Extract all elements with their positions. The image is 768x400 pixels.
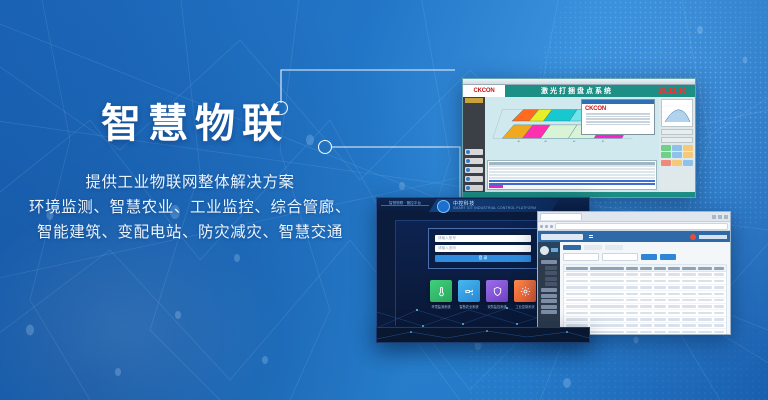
close-icon[interactable]: [724, 215, 728, 219]
avatar[interactable]: [690, 234, 696, 240]
promo-banner: 智慧物联 提供工业物联网整体解决方案 环境监测、智慧农业、工业监控、综合管廊、 …: [0, 0, 768, 400]
password-placeholder: 请输入密码: [438, 246, 456, 251]
portal-bottom-network-strip: [376, 327, 590, 343]
scada-icon[interactable]: [683, 160, 693, 166]
scada-data-table[interactable]: [487, 160, 657, 190]
username-placeholder: 请输入账号: [438, 236, 456, 241]
reset-button[interactable]: [660, 254, 676, 260]
app-logo: [541, 234, 583, 240]
scada-trend-chart: [661, 99, 693, 127]
svg-text:A1: A1: [518, 140, 520, 143]
scada-sidebar-button[interactable]: [465, 176, 483, 182]
svg-text:B1: B1: [573, 141, 575, 143]
password-input[interactable]: 请输入密码: [435, 245, 531, 252]
browser-tabstrip[interactable]: [538, 212, 730, 222]
tab-online[interactable]: [584, 245, 602, 250]
hero-subtitle: 提供工业物联网整体解决方案 环境监测、智慧农业、工业监控、综合管廊、 智能建筑、…: [0, 170, 380, 245]
hamburger-icon[interactable]: [589, 235, 593, 239]
admin-dashboard-browser-screenshot[interactable]: [537, 211, 731, 335]
username-input[interactable]: 请输入账号: [435, 235, 531, 242]
dashboard-columns: [538, 242, 730, 335]
scada-icon[interactable]: [661, 152, 671, 158]
forward-icon[interactable]: [545, 225, 548, 228]
reload-icon[interactable]: [550, 225, 553, 228]
sidebar-item-users[interactable]: [541, 305, 557, 309]
scada-brand-logo: CKCON: [463, 85, 505, 97]
scada-rail-button[interactable]: [661, 137, 693, 143]
scada-sidebar-button[interactable]: [465, 149, 483, 155]
scada-title: 激光打捆盘点系统: [505, 86, 649, 96]
app-header-right[interactable]: [690, 234, 727, 240]
dashboard-sidebar[interactable]: [538, 242, 560, 335]
sidebar-item-reports[interactable]: [541, 299, 557, 303]
sidebar-item-data[interactable]: [541, 288, 557, 292]
scada-canvas[interactable]: A1A2 B1B2 CKCON: [485, 97, 659, 192]
window-controls[interactable]: [712, 215, 728, 219]
dialog-brand-logo: CKCON: [585, 106, 654, 112]
keyword-input[interactable]: [563, 253, 599, 261]
dialog-text-line: [586, 121, 650, 123]
scada-icon[interactable]: [672, 152, 682, 158]
sidebar-item-alarms[interactable]: [541, 294, 557, 298]
dialog-text-line: [586, 118, 650, 120]
hero-subtitle-line-2: 环境监测、智慧农业、工业监控、综合管廊、: [0, 195, 380, 220]
gear-icon: [437, 200, 450, 213]
type-select[interactable]: [602, 253, 638, 261]
scada-sidebar-button[interactable]: [465, 158, 483, 164]
dashboard-content: [560, 242, 730, 335]
sidebar-user-card[interactable]: [538, 242, 560, 258]
maximize-icon[interactable]: [718, 215, 722, 219]
scada-icon[interactable]: [661, 160, 671, 166]
scada-rail-button[interactable]: [661, 129, 693, 135]
scada-sidebar-button[interactable]: [465, 167, 483, 173]
tab-all[interactable]: [563, 245, 581, 250]
minimize-icon[interactable]: [712, 215, 716, 219]
scada-right-rail[interactable]: [659, 97, 695, 192]
scada-sidebar-tag: [465, 98, 483, 103]
page-title: 智慧物联: [10, 104, 380, 144]
scada-icon[interactable]: [661, 145, 671, 151]
avatar: [540, 246, 549, 255]
scada-icon[interactable]: [683, 152, 693, 158]
scada-icon-grid[interactable]: [661, 145, 693, 166]
dialog-titlebar: [582, 100, 654, 104]
filter-bar[interactable]: [563, 253, 727, 261]
portal-subtitle: SMART IOT INDUSTRIAL CONTROL PLATFORM: [453, 206, 536, 210]
dialog-text-line: [586, 116, 650, 118]
hero-subtitle-line-3: 智能建筑、变配电站、防灾减灾、智慧交通: [0, 220, 380, 245]
sidebar-user-name: [551, 248, 558, 252]
device-table[interactable]: [563, 264, 727, 335]
sidebar-subitem[interactable]: [545, 282, 557, 286]
sidebar-subitem[interactable]: [545, 266, 557, 270]
scada-header: CKCON 激光打捆盘点系统 15:22:10: [463, 85, 695, 97]
scada-body: A1A2 B1B2 CKCON: [463, 97, 695, 192]
sidebar-item-devices[interactable]: [541, 260, 557, 264]
login-button[interactable]: 登 录: [435, 255, 531, 262]
scada-icon[interactable]: [672, 145, 682, 151]
scada-icon[interactable]: [683, 145, 693, 151]
browser-addressbar[interactable]: [538, 222, 730, 231]
sidebar-item-settings[interactable]: [541, 310, 557, 314]
search-button[interactable]: [641, 254, 657, 260]
scada-sidebar-button[interactable]: [465, 185, 483, 191]
sidebar-subitem[interactable]: [545, 277, 557, 281]
portal-left-label: 智慧物联 · 管控平台: [389, 201, 421, 206]
scada-sidebar[interactable]: [463, 97, 485, 192]
login-form[interactable]: 请输入账号 请输入密码 登 录: [428, 228, 538, 269]
sidebar-subitem[interactable]: [545, 271, 557, 275]
dialog-text-line: [586, 113, 650, 115]
app-header: [538, 231, 730, 242]
scada-about-dialog[interactable]: CKCON: [581, 99, 655, 135]
scada-icon[interactable]: [672, 160, 682, 166]
table-header-row: [564, 265, 726, 272]
scada-clock: 15:22:10: [649, 88, 695, 95]
account-label[interactable]: [699, 235, 727, 239]
table-row-flagged[interactable]: [489, 185, 503, 187]
tab-offline[interactable]: [605, 245, 623, 250]
sidebar-nav-group[interactable]: [538, 260, 560, 314]
url-input[interactable]: [555, 223, 728, 230]
hero-copy: 智慧物联 提供工业物联网整体解决方案 环境监测、智慧农业、工业监控、综合管廊、 …: [0, 104, 380, 245]
browser-tab[interactable]: [540, 213, 582, 220]
content-tabs[interactable]: [563, 245, 727, 250]
svg-text:B2: B2: [602, 141, 604, 143]
back-icon[interactable]: [540, 225, 543, 228]
table-row-selected[interactable]: [489, 183, 655, 185]
svg-text:A2: A2: [544, 140, 546, 143]
hero-subtitle-line-1: 提供工业物联网整体解决方案: [0, 170, 380, 195]
dialog-text-line: [586, 124, 650, 126]
scada-window-screenshot[interactable]: CKCON 激光打捆盘点系统 15:22:10: [462, 78, 696, 198]
table-row[interactable]: [489, 162, 655, 165]
